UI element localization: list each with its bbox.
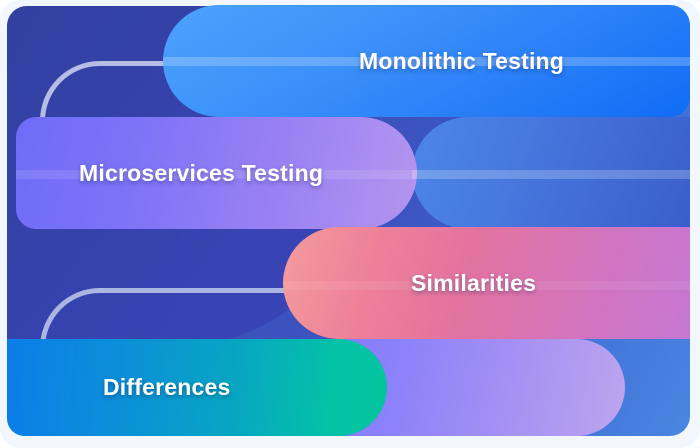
bar-microservices-testing[interactable]: Microservices Testing bbox=[16, 117, 417, 229]
bar-similarities[interactable]: Similarities bbox=[283, 227, 690, 339]
bar-monolithic-testing[interactable]: Monolithic Testing bbox=[163, 5, 690, 117]
bar-label-similarities: Similarities bbox=[411, 270, 536, 297]
bar-label-monolithic-testing: Monolithic Testing bbox=[359, 48, 564, 75]
bar-label-differences: Differences bbox=[103, 374, 230, 401]
bar-differences[interactable]: Differences bbox=[7, 339, 387, 436]
bar-label-microservices-testing: Microservices Testing bbox=[79, 160, 323, 187]
bar-row2-blue-plain[interactable] bbox=[412, 117, 690, 229]
banner-canvas: Monolithic Testing Microservices Testing… bbox=[0, 0, 700, 448]
bar-highlight-streak bbox=[412, 170, 690, 179]
